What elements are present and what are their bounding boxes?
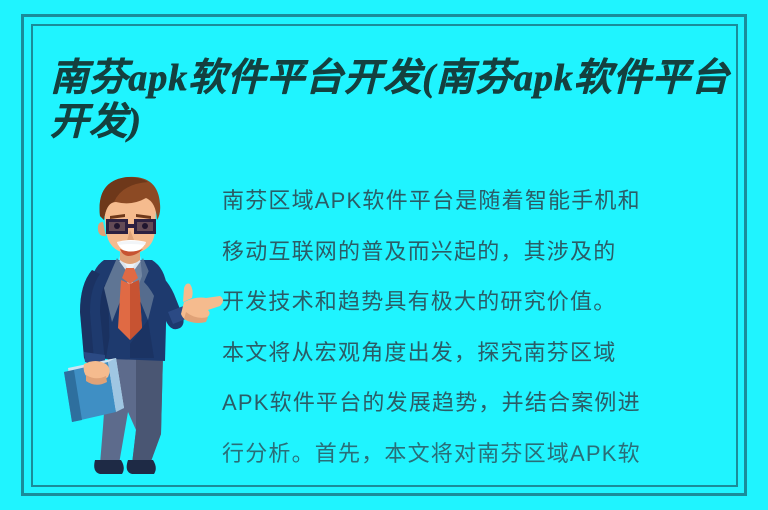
article-body: 南芬区域APK软件平台是随着智能手机和 移动互联网的普及而兴起的，其涉及的 开发… [222, 176, 746, 476]
article-line: 南芬区域APK软件平台是随着智能手机和 [222, 176, 746, 227]
page-title-line-2: 开发) [50, 101, 142, 143]
businessman-illustration [62, 172, 226, 482]
article-line: 行分析。首先，本文将对南芬区域APK软 [222, 429, 746, 477]
article-line: 开发技术和趋势具有极大的研究价值。 [222, 277, 746, 328]
article-line: 移动互联网的普及而兴起的，其涉及的 [222, 227, 746, 278]
poster-canvas: 南芬apk软件平台开发(南芬apk软件平台开发) 南芬区域APK软件平台是随着智… [0, 0, 768, 510]
article-line: APK软件平台的发展趋势，并结合案例进 [222, 378, 746, 429]
article-line: 本文将从宏观角度出发，探究南芬区域 [222, 328, 746, 379]
page-title: 南芬apk软件平台开发(南芬apk软件平台开发) [50, 56, 740, 144]
page-title-line-1: 南芬apk软件平台开发(南芬apk软件平台 [50, 57, 730, 99]
